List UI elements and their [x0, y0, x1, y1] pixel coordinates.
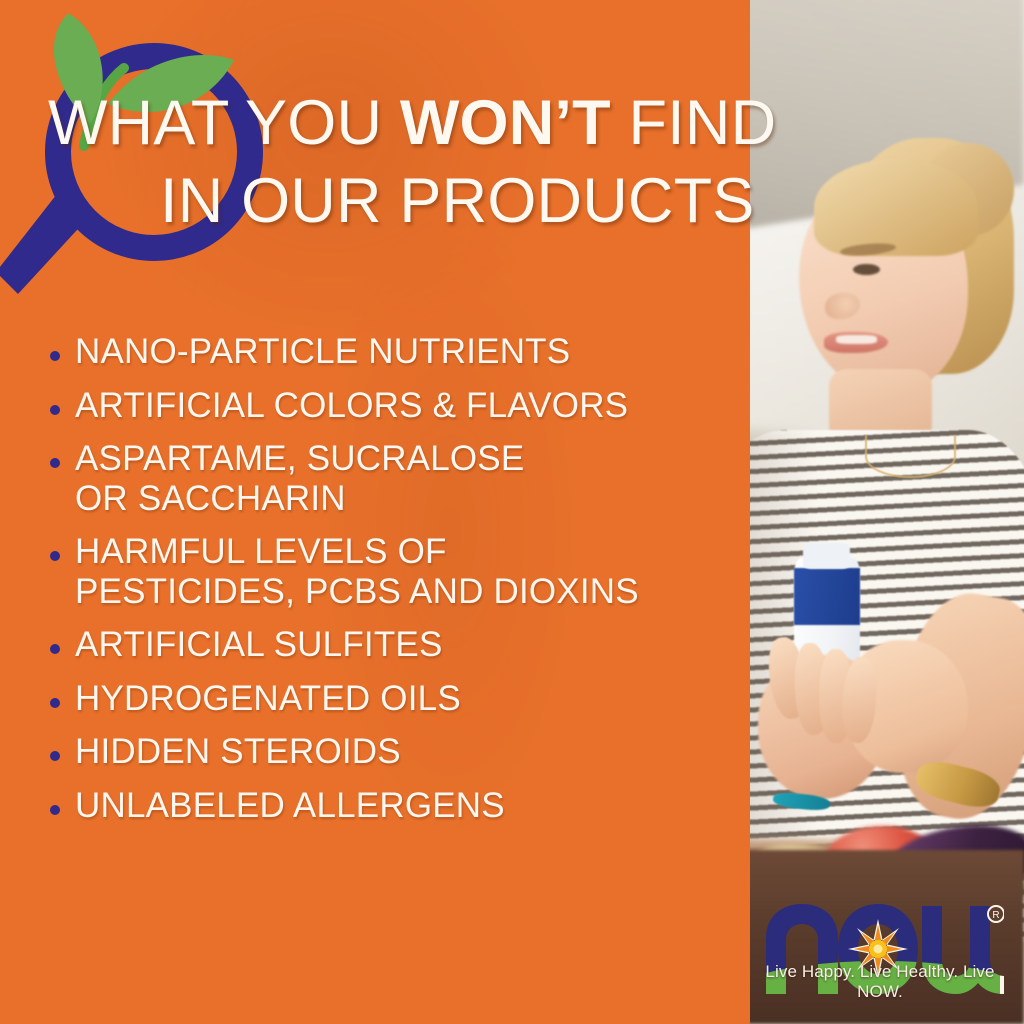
bullet-dot-icon: [50, 805, 60, 815]
poster: WHAT YOU WON’T FIND IN OUR PRODUCTS NANO…: [0, 0, 1024, 1024]
registered-mark: R: [988, 906, 1004, 922]
exclusion-list: NANO-PARTICLE NUTRIENTS ARTIFICIAL COLOR…: [50, 332, 750, 839]
list-item: ARTIFICIAL SULFITES: [50, 625, 750, 665]
list-item-label: HIDDEN STEROIDS: [75, 732, 401, 772]
list-item-label: ASPARTAME, SUCRALOSE OR SACCHARIN: [75, 439, 524, 518]
title-line-1-part2: FIND: [611, 88, 776, 158]
bullet-dot-icon: [50, 405, 60, 415]
list-item-label: HYDROGENATED OILS: [75, 679, 461, 719]
bullet-dot-icon: [50, 458, 60, 468]
bullet-dot-icon: [50, 351, 60, 361]
list-item: NANO-PARTICLE NUTRIENTS: [50, 332, 750, 372]
page-title: WHAT YOU WON’T FIND IN OUR PRODUCTS: [48, 92, 748, 233]
bullet-dot-icon: [50, 751, 60, 761]
title-line-1-part1: WHAT YOU: [48, 88, 400, 158]
title-line-1: WHAT YOU WON’T FIND: [48, 92, 748, 154]
title-line-2: IN OUR PRODUCTS: [48, 170, 748, 232]
list-item-label: ARTIFICIAL SULFITES: [75, 625, 443, 665]
list-item: ASPARTAME, SUCRALOSE OR SACCHARIN: [50, 439, 750, 518]
svg-text:R: R: [992, 910, 999, 921]
list-item-label: UNLABELED ALLERGENS: [75, 786, 505, 826]
list-item-label: ARTIFICIAL COLORS & FLAVORS: [75, 386, 628, 426]
list-item: HYDROGENATED OILS: [50, 679, 750, 719]
bullet-dot-icon: [50, 698, 60, 708]
list-item: UNLABELED ALLERGENS: [50, 786, 750, 826]
list-item-label: HARMFUL LEVELS OF PESTICIDES, PCBS AND D…: [75, 532, 639, 611]
logo-tagline: Live Happy. Live Healthy. Live NOW.: [756, 962, 1004, 1002]
list-item-label: NANO-PARTICLE NUTRIENTS: [75, 332, 570, 372]
list-item: HARMFUL LEVELS OF PESTICIDES, PCBS AND D…: [50, 532, 750, 611]
hair-front: [814, 159, 978, 256]
bottle-cap: [803, 543, 850, 570]
title-emphasis-wont: WON’T: [400, 88, 611, 158]
bottle-label: [794, 568, 861, 624]
list-item: ARTIFICIAL COLORS & FLAVORS: [50, 386, 750, 426]
bullet-dot-icon: [50, 551, 60, 561]
necklace: [865, 435, 956, 478]
teeth: [836, 335, 877, 344]
bullet-dot-icon: [50, 644, 60, 654]
list-item: HIDDEN STEROIDS: [50, 732, 750, 772]
